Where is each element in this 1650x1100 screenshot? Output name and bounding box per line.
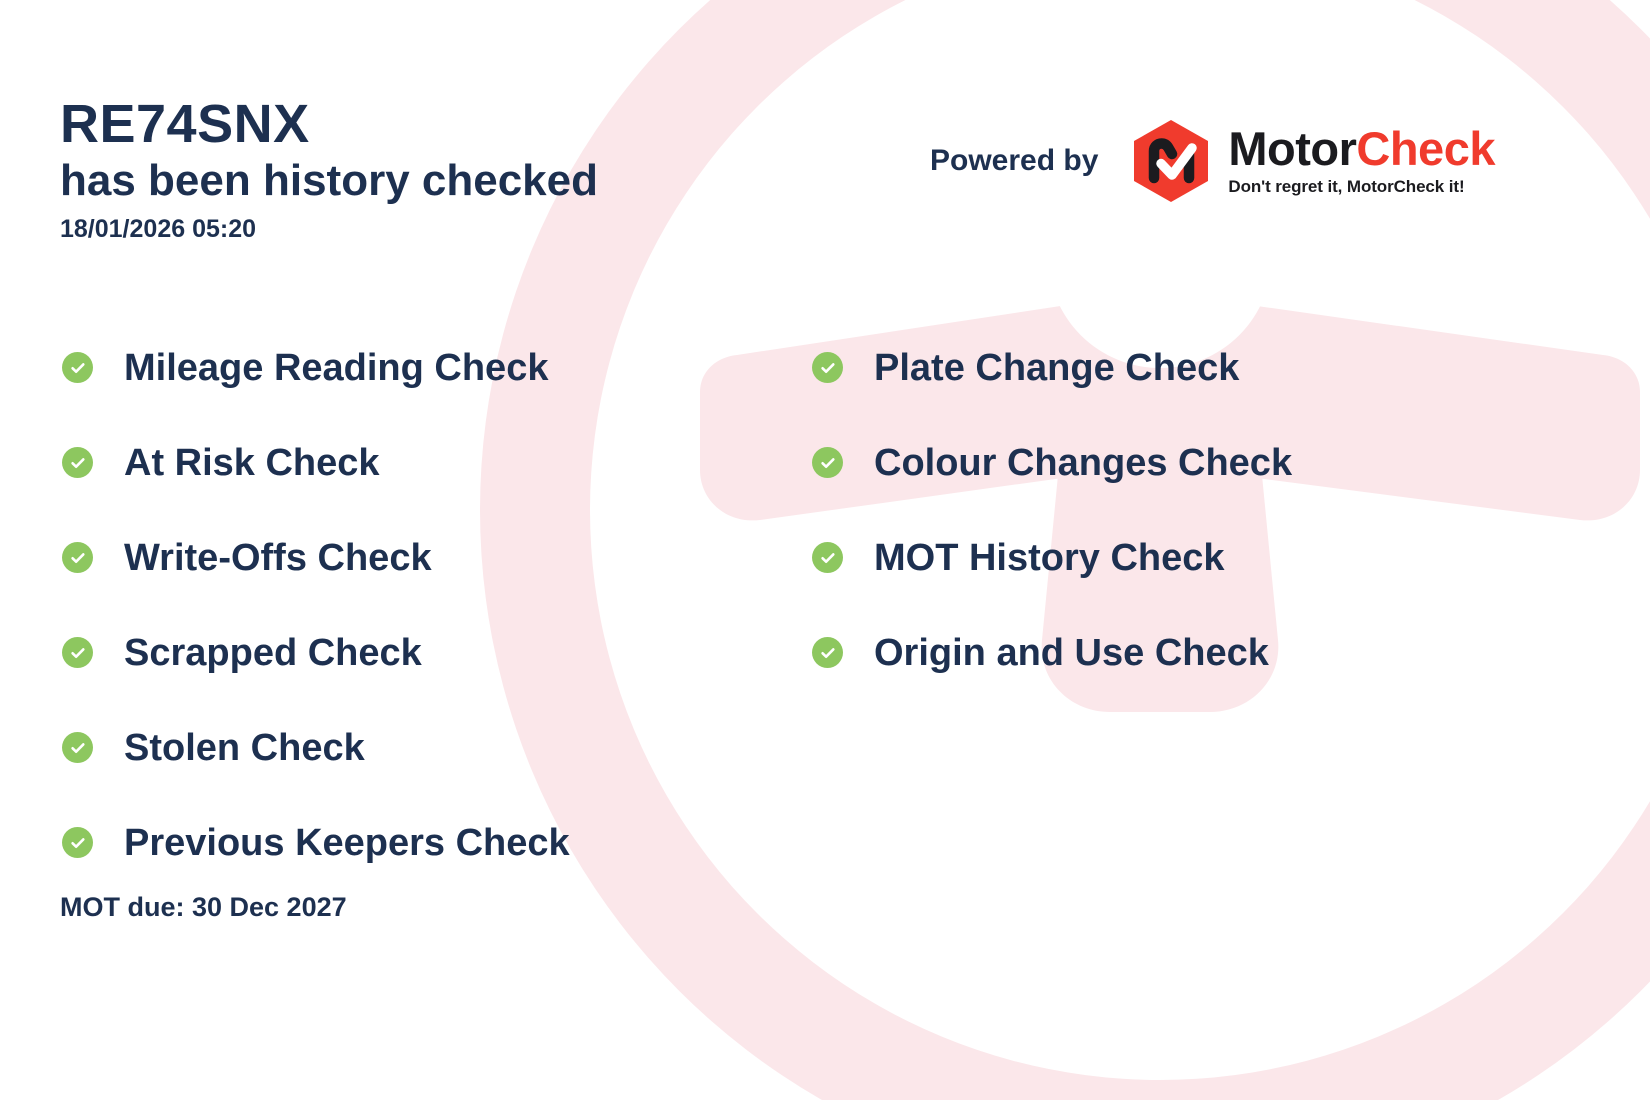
- check-list-item: Colour Changes Check: [812, 415, 1292, 510]
- check-item-label: Mileage Reading Check: [124, 349, 548, 387]
- motorcheck-wordmark: MotorCheck Don't regret it, MotorCheck i…: [1228, 125, 1495, 197]
- mot-due-text: MOT due: 30 Dec 2027: [60, 892, 347, 923]
- check-list-item: Scrapped Check: [62, 605, 570, 700]
- motorcheck-hexagon-icon: [1128, 118, 1214, 204]
- powered-by-block: Powered by MotorCheck Don't regret it, M…: [930, 118, 1495, 204]
- powered-by-label: Powered by: [930, 144, 1098, 178]
- check-list-item: Mileage Reading Check: [62, 320, 570, 415]
- green-check-circle-icon: [812, 542, 843, 573]
- check-item-label: Previous Keepers Check: [124, 824, 570, 862]
- green-check-circle-icon: [62, 637, 93, 668]
- motorcheck-logo-word: MotorCheck: [1228, 125, 1495, 172]
- check-item-label: Plate Change Check: [874, 349, 1239, 387]
- header-block: RE74SNX has been history checked 18/01/2…: [60, 96, 598, 244]
- logo-word-check: Check: [1356, 122, 1495, 175]
- check-item-label: Stolen Check: [124, 729, 365, 767]
- checks-right-column: Plate Change Check Colour Changes Check …: [812, 320, 1292, 700]
- check-timestamp: 18/01/2026 05:20: [60, 215, 598, 244]
- check-list-item: At Risk Check: [62, 415, 570, 510]
- motorcheck-tagline: Don't regret it, MotorCheck it!: [1228, 177, 1495, 197]
- check-list-item: Origin and Use Check: [812, 605, 1292, 700]
- logo-word-motor: Motor: [1228, 122, 1356, 175]
- green-check-circle-icon: [812, 637, 843, 668]
- check-list-item: Stolen Check: [62, 700, 570, 795]
- check-item-label: Colour Changes Check: [874, 444, 1292, 482]
- green-check-circle-icon: [62, 827, 93, 858]
- check-item-label: MOT History Check: [874, 539, 1225, 577]
- check-item-label: At Risk Check: [124, 444, 380, 482]
- page-title: has been history checked: [60, 156, 598, 205]
- check-list-item: MOT History Check: [812, 510, 1292, 605]
- check-item-label: Scrapped Check: [124, 634, 422, 672]
- check-list-item: Write-Offs Check: [62, 510, 570, 605]
- check-item-label: Write-Offs Check: [124, 539, 432, 577]
- checks-left-column: Mileage Reading Check At Risk Check Writ…: [62, 320, 570, 890]
- green-check-circle-icon: [62, 732, 93, 763]
- green-check-circle-icon: [812, 352, 843, 383]
- green-check-circle-icon: [62, 542, 93, 573]
- check-list-item: Previous Keepers Check: [62, 795, 570, 890]
- green-check-circle-icon: [62, 352, 93, 383]
- vehicle-history-check-card: RE74SNX has been history checked 18/01/2…: [0, 0, 1650, 1100]
- motorcheck-logo[interactable]: MotorCheck Don't regret it, MotorCheck i…: [1128, 118, 1495, 204]
- green-check-circle-icon: [812, 447, 843, 478]
- check-item-label: Origin and Use Check: [874, 634, 1269, 672]
- green-check-circle-icon: [62, 447, 93, 478]
- registration-plate: RE74SNX: [60, 96, 598, 152]
- check-list-item: Plate Change Check: [812, 320, 1292, 415]
